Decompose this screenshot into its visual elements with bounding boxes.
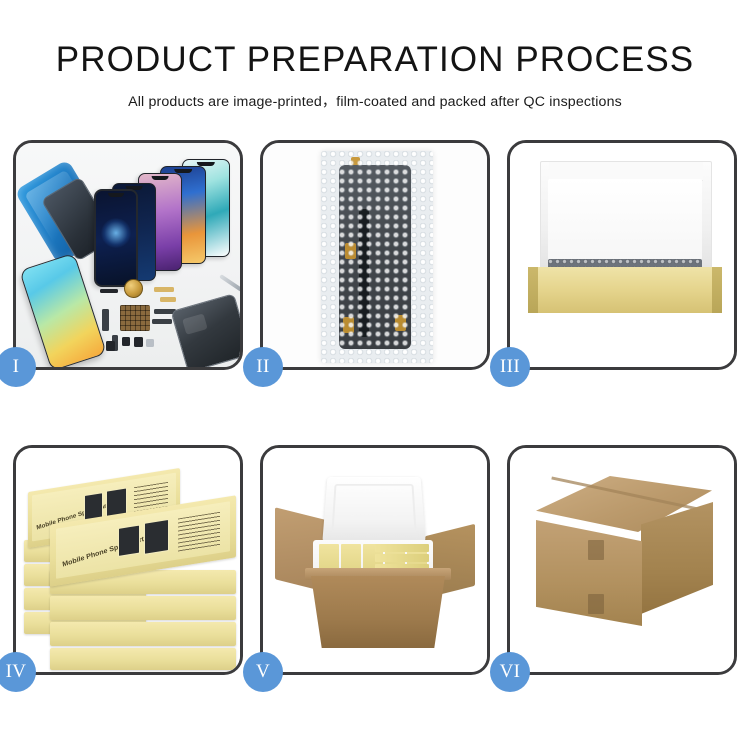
front-glass-panel xyxy=(94,189,138,287)
stacked-box-f4 xyxy=(50,648,236,670)
part-flex-d xyxy=(102,309,109,331)
part-small-c xyxy=(146,339,154,347)
label-window-c xyxy=(118,524,140,556)
part-flex-b xyxy=(154,287,174,292)
step-badge-6: VI xyxy=(490,652,530,692)
retail-box-item xyxy=(375,544,429,552)
page-subtitle: All products are image-printed，film-coat… xyxy=(0,91,750,111)
part-flex-a xyxy=(100,289,118,293)
stacked-box-f3 xyxy=(50,622,236,646)
step-6-image xyxy=(510,448,734,672)
notch-icon xyxy=(152,176,169,180)
header: PRODUCT PREPARATION PROCESS All products… xyxy=(0,40,750,111)
carton-tape-mark-b xyxy=(588,594,604,614)
step-1-image xyxy=(16,143,240,367)
retail-box-item xyxy=(375,554,429,562)
step-3-image xyxy=(510,143,734,367)
spare-parts-cluster xyxy=(100,279,240,367)
phone-back-housing xyxy=(170,293,240,367)
part-flex-c xyxy=(160,297,176,302)
stacked-box-f2 xyxy=(50,596,236,620)
product-preparation-infographic: PRODUCT PREPARATION PROCESS All products… xyxy=(0,0,750,750)
foam-sheet xyxy=(548,179,702,265)
notch-icon xyxy=(108,193,124,197)
kraft-box-base xyxy=(528,267,722,313)
speaker-module-icon xyxy=(124,279,143,298)
part-flex-g xyxy=(152,319,172,324)
phone-lineup xyxy=(94,159,234,279)
process-step-panel-3[interactable]: III xyxy=(507,140,737,370)
foam-lid-open xyxy=(322,477,425,543)
carton-body xyxy=(311,576,445,648)
step-badge-1: I xyxy=(0,347,36,387)
process-step-panel-6[interactable]: VI xyxy=(507,445,737,675)
part-small-b xyxy=(134,337,143,347)
label-spec-lines-front xyxy=(178,512,220,553)
screw-tray-icon xyxy=(120,305,150,331)
step-badge-3: III xyxy=(490,347,530,387)
process-step-grid: I II xyxy=(13,140,737,675)
process-step-panel-2[interactable]: II xyxy=(260,140,490,370)
screen-glow xyxy=(101,218,131,248)
carton-tape-mark-a xyxy=(588,540,604,560)
process-step-panel-5[interactable]: V xyxy=(260,445,490,675)
page-title: PRODUCT PREPARATION PROCESS xyxy=(0,40,750,80)
step-badge-4: IV xyxy=(0,652,36,692)
retail-box-stack: Mobile Phone Spare Parts Mobile Phone Sp… xyxy=(24,466,238,662)
part-small-d xyxy=(106,341,115,351)
part-small-a xyxy=(122,337,130,346)
bubble-texture-overlay xyxy=(321,151,433,363)
process-step-panel-4[interactable]: Mobile Phone Spare Parts Mobile Phone Sp… xyxy=(13,445,243,675)
step-5-image xyxy=(263,448,487,672)
step-2-image xyxy=(263,143,487,367)
bubble-wrap-bag xyxy=(321,151,433,363)
step-4-image: Mobile Phone Spare Parts Mobile Phone Sp… xyxy=(16,448,240,672)
step-badge-5: V xyxy=(243,652,283,692)
step-badge-2: II xyxy=(243,347,283,387)
label-window-d xyxy=(144,519,169,555)
process-step-panel-1[interactable]: I xyxy=(13,140,243,370)
